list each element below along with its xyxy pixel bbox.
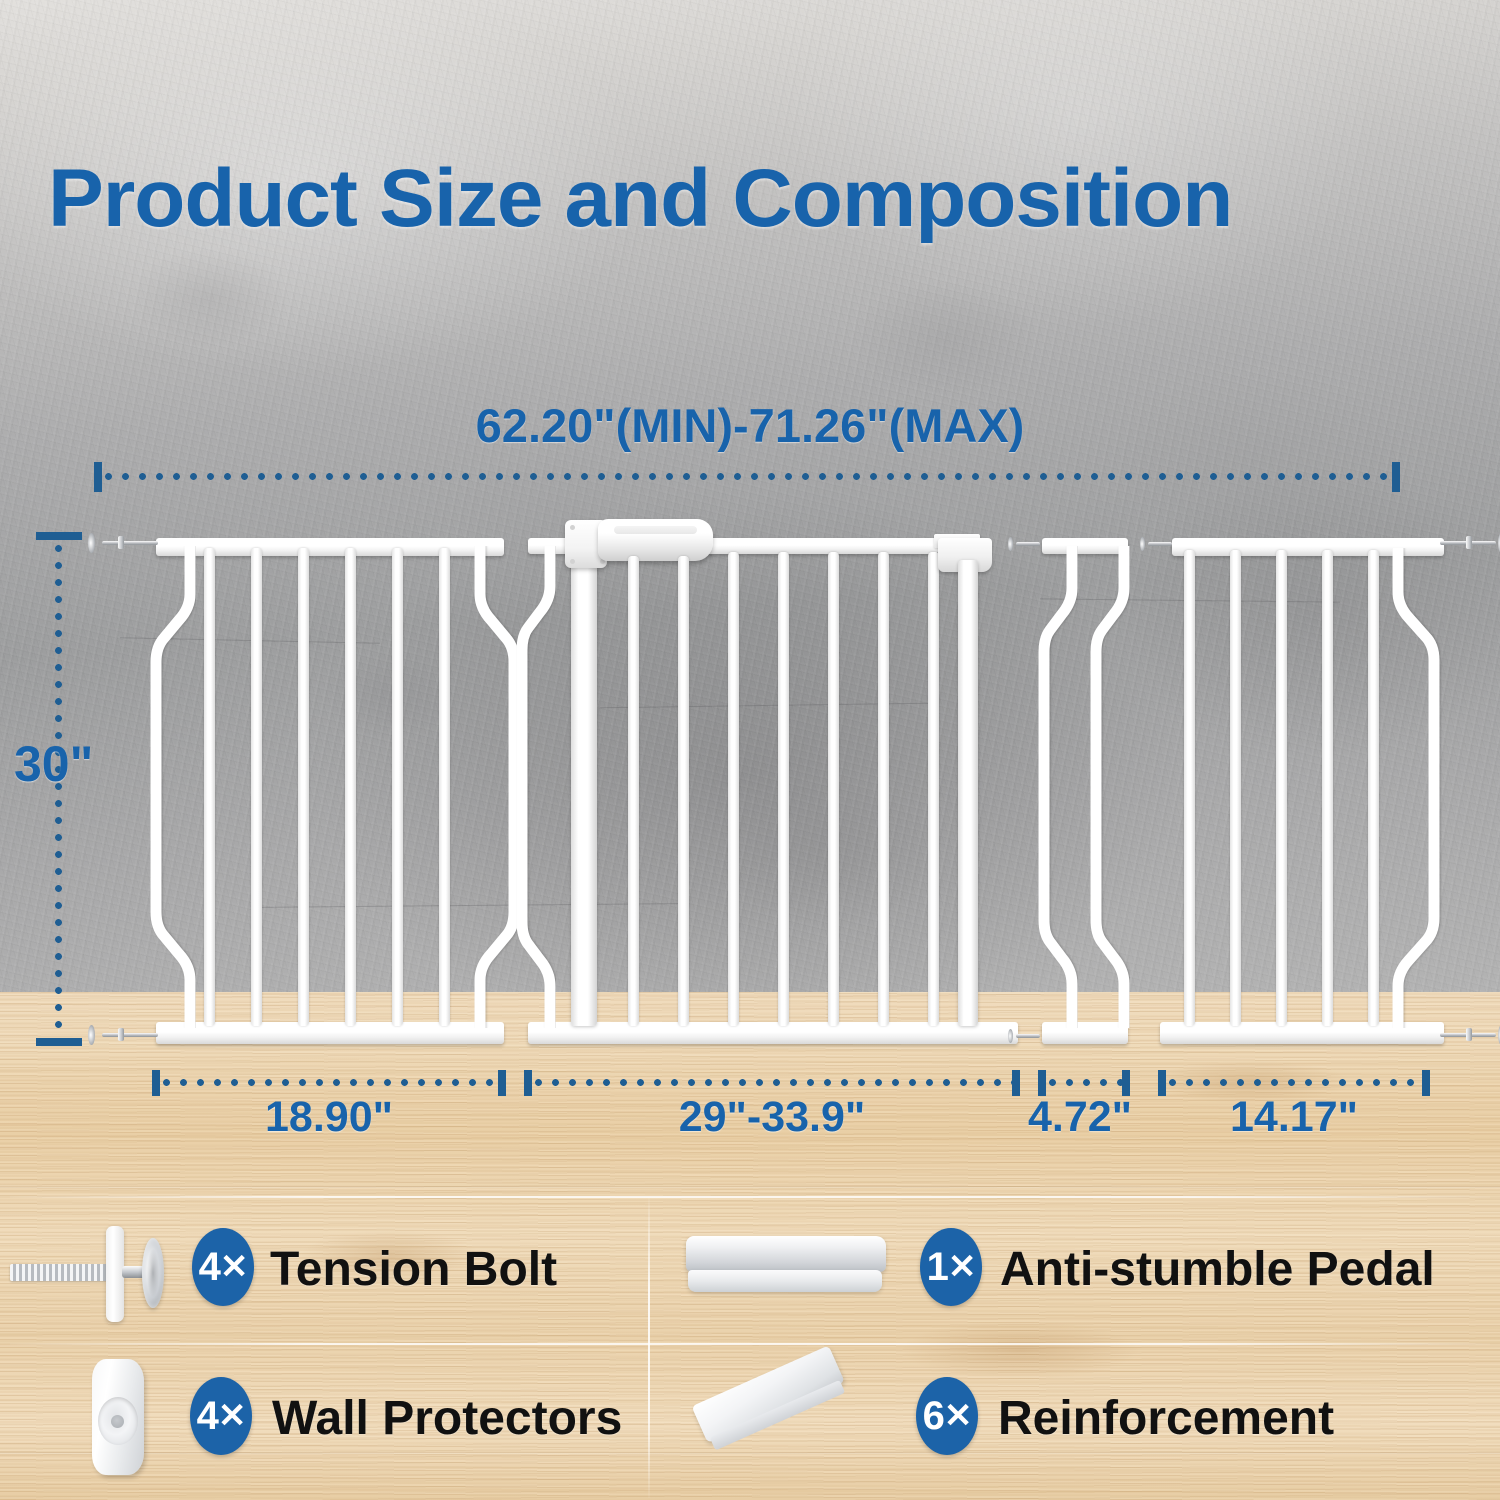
large-extension-bar [1276, 550, 1287, 1026]
gate-door-bar [828, 552, 839, 1026]
badge-qty: 4 [199, 1245, 220, 1290]
badge-times: ✕ [948, 1247, 976, 1287]
gate-handle-grip[interactable] [598, 519, 713, 561]
gate-door-bar [778, 552, 789, 1026]
segment-dimension-line [530, 1079, 1012, 1086]
wall-blotch-overlay [0, 0, 1500, 992]
gate-door-left-hinge-bar [516, 546, 556, 1028]
anti-stumble-pedal-icon [686, 1228, 896, 1304]
segment-label-gate-door: 29"-33.9" [527, 1093, 1017, 1142]
tension-bolt-large-extension-top-left [1140, 534, 1176, 554]
badge-times: ✕ [220, 1247, 248, 1287]
gate-door-bottom-rail [528, 1022, 1018, 1044]
gate-door-bar [628, 556, 639, 1026]
overall-width-dimension-line [100, 473, 1392, 480]
accessory-tension-bolt: 4✕ Tension Bolt [0, 1198, 648, 1343]
left-panel-bar [439, 548, 450, 1026]
large-extension-bar [1368, 550, 1379, 1026]
wall-protectors-quantity-badge: 4✕ [190, 1377, 252, 1455]
tension-bolt-top-left [88, 533, 158, 553]
small-extension-left-end-bar [1038, 546, 1078, 1028]
height-label: 30" [14, 735, 93, 793]
left-panel-right-end-bar [474, 546, 520, 1028]
wall-protector-icon [78, 1359, 188, 1481]
badge-times: ✕ [944, 1396, 972, 1436]
accessory-wall-protectors: 4✕ Wall Protectors [0, 1345, 648, 1495]
gate-door-bar [678, 556, 689, 1026]
tension-bolt-small-extension-bottom [1008, 1026, 1044, 1046]
segment-label-large-extension: 14.17" [1160, 1093, 1428, 1142]
tension-bolt-bottom-left [88, 1025, 158, 1045]
anti-stumble-pedal-label: Anti-stumble Pedal [1000, 1242, 1435, 1297]
segment-label-small-extension: 4.72" [1000, 1093, 1160, 1142]
large-extension-bar [1184, 550, 1195, 1026]
left-panel-bar [298, 548, 309, 1026]
segment-dimension-line [158, 1079, 498, 1086]
tension-bolt-label: Tension Bolt [270, 1242, 557, 1297]
tension-bolt-top-right [1440, 533, 1500, 553]
left-panel-bar [392, 548, 403, 1026]
badge-qty: 6 [923, 1394, 944, 1439]
badge-times: ✕ [218, 1396, 246, 1436]
large-extension-bar [1322, 550, 1333, 1026]
gate-door-latch-post [958, 560, 978, 1026]
badge-qty: 4 [197, 1394, 218, 1439]
segment-label-left-panel: 18.90" [155, 1093, 503, 1142]
left-panel-left-end-bar [150, 546, 196, 1028]
gate-door-bar [728, 552, 739, 1026]
overall-width-label: 62.20"(MIN)-71.26"(MAX) [0, 398, 1500, 453]
accessory-reinforcement: 6✕ Reinforcement [648, 1345, 1500, 1495]
left-panel-bar [345, 548, 356, 1026]
left-panel-bar [251, 548, 262, 1026]
page-title: Product Size and Composition [48, 158, 1488, 240]
badge-qty: 1 [927, 1245, 948, 1290]
product-infographic: Product Size and Composition 62.20"(MIN)… [0, 0, 1500, 1500]
small-extension-right-end-bar [1090, 546, 1130, 1028]
floor-plank-seam [0, 1186, 1500, 1188]
dim-tick-bottom [36, 1038, 82, 1046]
gate-door-bar [928, 552, 939, 1026]
gate-door-bar [878, 552, 889, 1026]
dim-tick-top [36, 532, 82, 540]
large-extension-bar [1230, 550, 1241, 1026]
tension-bolt-bottom-right [1440, 1025, 1500, 1045]
tension-bolt-quantity-badge: 4✕ [192, 1228, 254, 1306]
reinforcement-quantity-badge: 6✕ [916, 1377, 978, 1455]
anti-stumble-pedal-quantity-badge: 1✕ [920, 1228, 982, 1306]
wall-protectors-label: Wall Protectors [272, 1391, 622, 1446]
dim-tick-right [1392, 462, 1400, 492]
left-panel-bar [204, 548, 215, 1026]
reinforcement-label: Reinforcement [998, 1391, 1334, 1446]
tension-bolt-icon [10, 1216, 180, 1326]
segment-dimension-line [1044, 1079, 1122, 1086]
large-extension-right-end-bar [1392, 548, 1442, 1028]
accessory-anti-stumble-pedal: 1✕ Anti-stumble Pedal [648, 1198, 1500, 1343]
gate-door-frame-post [571, 548, 597, 1026]
reinforcement-icon [691, 1341, 864, 1466]
segment-dimension-line [1164, 1079, 1422, 1086]
